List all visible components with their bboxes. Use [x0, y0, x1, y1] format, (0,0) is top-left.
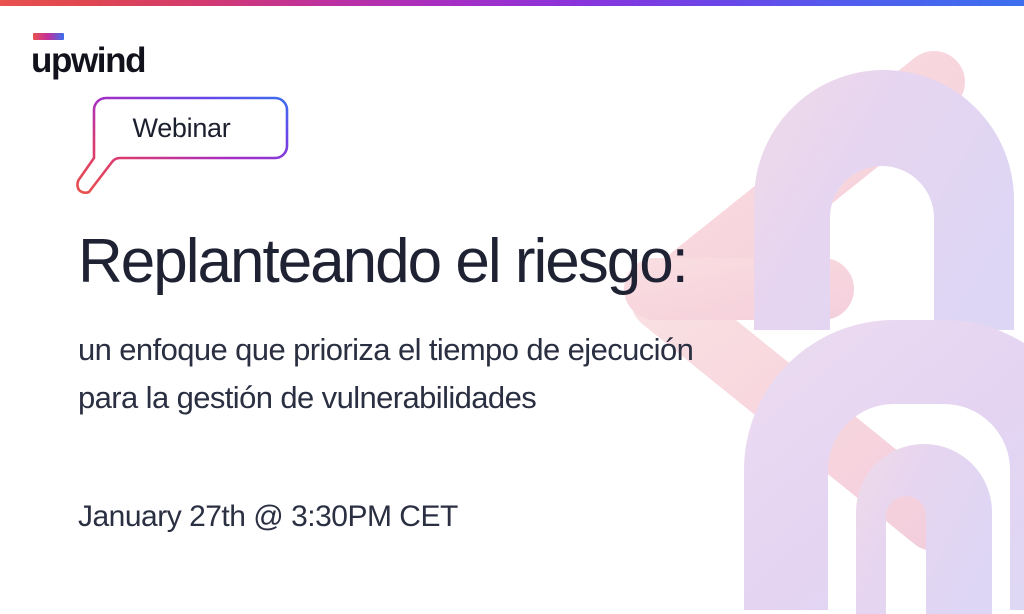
abstract-bug-glyph-icon — [604, 0, 1024, 614]
page-title: Replanteando el riesgo: — [78, 228, 687, 296]
subtitle-line-1: un enfoque que prioriza el tiempo de eje… — [78, 326, 693, 374]
logo-gradient-bar-icon — [33, 33, 64, 40]
webinar-banner: upwind Webinar Replanteando el riesgo: u… — [0, 0, 1024, 614]
upwind-logo[interactable]: upwind — [31, 33, 145, 78]
top-gradient-rule — [0, 0, 1024, 6]
webinar-badge-label: Webinar — [76, 96, 287, 161]
webinar-badge: Webinar — [76, 96, 294, 202]
subtitle-line-2: para la gestión de vulnerabilidades — [78, 374, 693, 422]
event-datetime: January 27th @ 3:30PM CET — [78, 497, 458, 537]
logo-wordmark: upwind — [31, 43, 145, 78]
page-subtitle: un enfoque que prioriza el tiempo de eje… — [78, 326, 693, 422]
